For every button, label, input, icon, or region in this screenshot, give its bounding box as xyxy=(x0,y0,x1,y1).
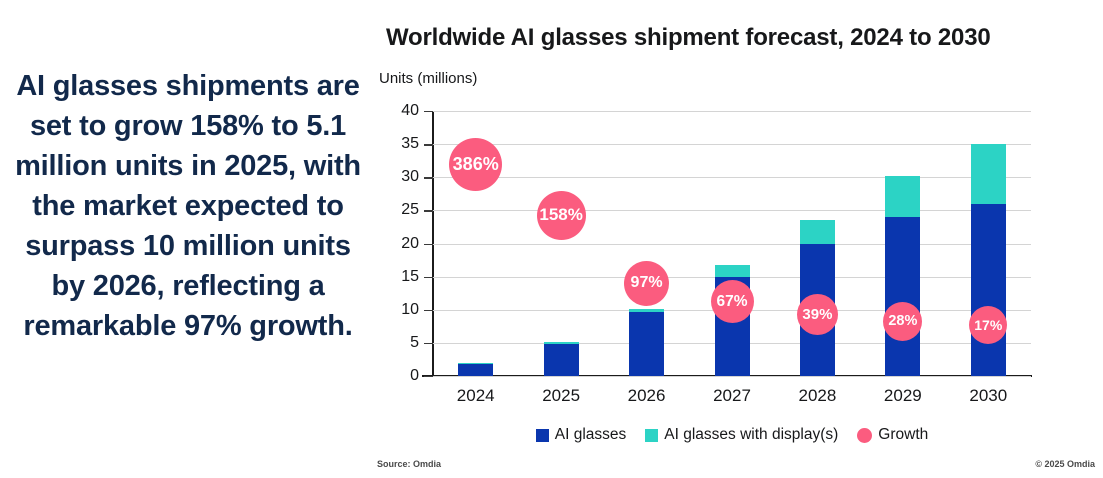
x-axis-labels: 2024202520262027202820292030 xyxy=(433,386,1031,410)
legend-label: Growth xyxy=(878,426,928,444)
y-axis-tick xyxy=(424,111,433,112)
gridline xyxy=(433,376,1031,377)
bar-group[interactable] xyxy=(800,111,835,376)
y-axis-tick xyxy=(424,310,433,311)
bar-segment-ai-glasses[interactable] xyxy=(458,364,493,376)
x-axis-label: 2028 xyxy=(799,386,837,406)
legend-circle-icon xyxy=(857,428,872,443)
copyright-note: © 2025 Omdia xyxy=(1035,459,1095,469)
x-axis-label: 2024 xyxy=(457,386,495,406)
x-axis-label: 2030 xyxy=(969,386,1007,406)
y-axis-tick xyxy=(424,343,433,344)
x-axis-label: 2027 xyxy=(713,386,751,406)
plot-area: 386%158%97%67%39%28%17% xyxy=(433,111,1031,376)
y-axis-tick xyxy=(424,376,433,377)
bar-segment-ai-glasses-with-display[interactable] xyxy=(629,309,664,312)
legend-square-icon xyxy=(536,429,549,442)
bar-segment-ai-glasses[interactable] xyxy=(971,204,1006,376)
growth-bubble[interactable]: 67% xyxy=(711,280,754,323)
bar-group[interactable] xyxy=(715,111,750,376)
y-axis-tick xyxy=(424,177,433,178)
y-axis-tick-label: 10 xyxy=(373,301,419,319)
x-axis-label: 2029 xyxy=(884,386,922,406)
bar-segment-ai-glasses-with-display[interactable] xyxy=(800,220,835,243)
y-axis-tick-label: 35 xyxy=(373,135,419,153)
source-note: Source: Omdia xyxy=(377,459,441,469)
chart-legend: AI glassesAI glasses with display(s)Grow… xyxy=(433,426,1031,444)
y-axis-tick-label: 20 xyxy=(373,235,419,253)
legend-square-icon xyxy=(645,429,658,442)
growth-bubble[interactable]: 158% xyxy=(537,191,586,240)
y-axis-tick-label: 30 xyxy=(373,168,419,186)
bar-group[interactable] xyxy=(544,111,579,376)
legend-item[interactable]: AI glasses xyxy=(536,426,627,444)
bar-segment-ai-glasses-with-display[interactable] xyxy=(885,176,920,217)
bar-segment-ai-glasses-with-display[interactable] xyxy=(715,265,750,276)
x-axis-label: 2026 xyxy=(628,386,666,406)
y-axis-tick-label: 5 xyxy=(373,334,419,352)
bar-group[interactable] xyxy=(629,111,664,376)
y-axis-tick-label: 15 xyxy=(373,268,419,286)
bar-segment-ai-glasses-with-display[interactable] xyxy=(544,342,579,344)
y-axis-tick-label: 40 xyxy=(373,102,419,120)
y-axis-tick xyxy=(424,244,433,245)
bar-segment-ai-glasses[interactable] xyxy=(544,344,579,376)
y-axis-tick xyxy=(424,144,433,145)
y-axis-tick-label: 0 xyxy=(373,367,419,385)
x-axis-label: 2025 xyxy=(542,386,580,406)
growth-bubble[interactable]: 97% xyxy=(624,261,669,306)
growth-bubble[interactable]: 386% xyxy=(449,138,502,191)
legend-label: AI glasses with display(s) xyxy=(664,426,838,444)
y-axis-tick xyxy=(424,210,433,211)
legend-item[interactable]: Growth xyxy=(857,426,928,444)
y-axis-tick-label: 25 xyxy=(373,201,419,219)
bar-segment-ai-glasses-with-display[interactable] xyxy=(971,144,1006,204)
chart-title: Worldwide AI glasses shipment forecast, … xyxy=(386,24,991,52)
legend-label: AI glasses xyxy=(555,426,627,444)
legend-item[interactable]: AI glasses with display(s) xyxy=(645,426,838,444)
infographic-page: AI glasses shipments are set to grow 158… xyxy=(0,0,1103,478)
y-axis-tick-labels: 0510152025303540 xyxy=(373,111,419,376)
growth-bubble[interactable]: 39% xyxy=(797,294,838,335)
y-axis-unit-label: Units (millions) xyxy=(379,70,477,87)
bar-segment-ai-glasses-with-display[interactable] xyxy=(458,363,493,364)
headline-text: AI glasses shipments are set to grow 158… xyxy=(8,66,368,346)
growth-bubble[interactable]: 28% xyxy=(883,302,922,341)
growth-bubble[interactable]: 17% xyxy=(969,306,1007,344)
bar-segment-ai-glasses[interactable] xyxy=(885,217,920,376)
y-axis-tick xyxy=(424,277,433,278)
bar-segment-ai-glasses[interactable] xyxy=(629,312,664,376)
